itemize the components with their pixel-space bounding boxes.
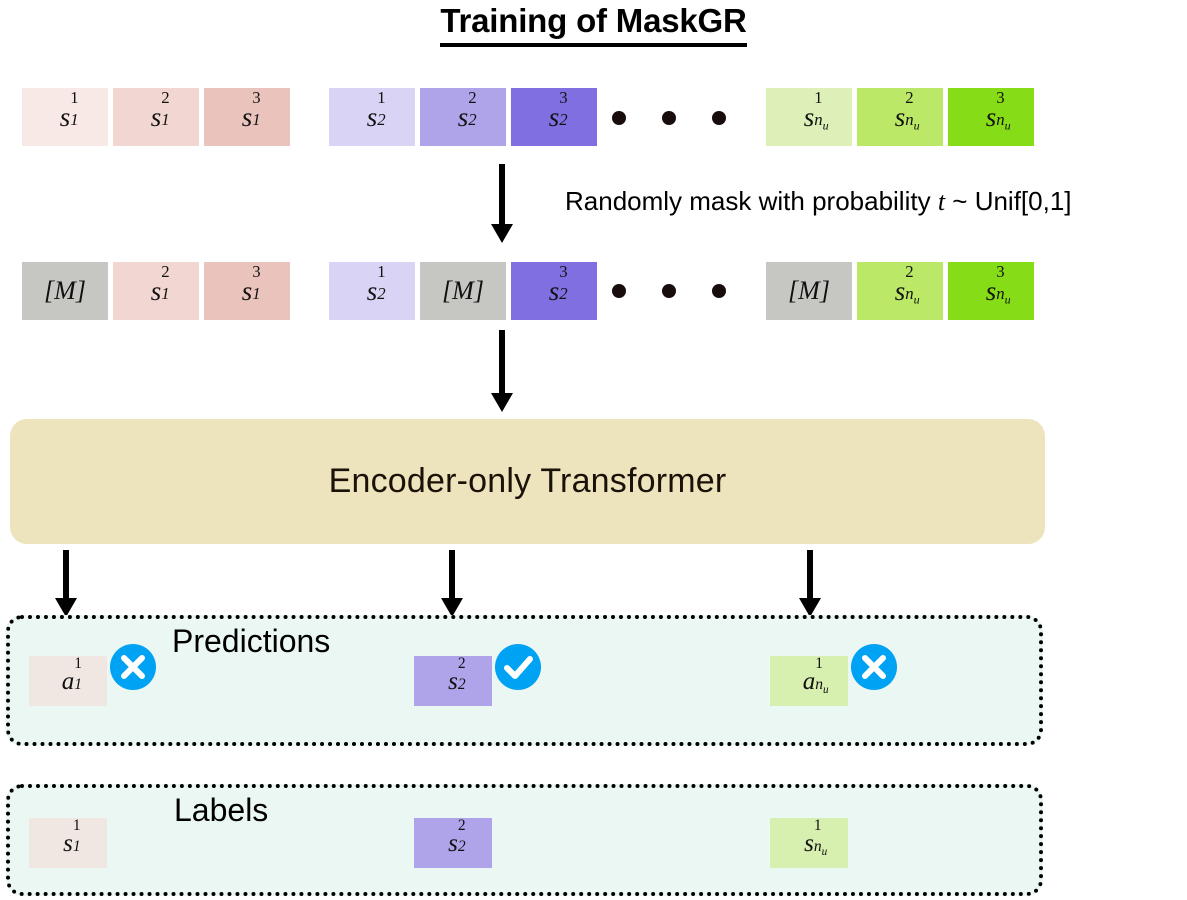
token-s-1-3: s31 bbox=[204, 262, 290, 320]
token-symbol: s12 bbox=[367, 104, 378, 131]
token-superscript: 1 bbox=[70, 90, 78, 107]
token-label-3: s1nu bbox=[770, 818, 848, 868]
token-subscript: nu bbox=[905, 286, 919, 305]
token-symbol: s21 bbox=[151, 104, 162, 131]
token-superscript: 1 bbox=[814, 818, 822, 834]
ellipsis-dot-icon bbox=[612, 284, 626, 298]
token-superscript: 3 bbox=[996, 90, 1004, 107]
token-superscript: 1 bbox=[814, 90, 822, 107]
token-s-2-3: s32 bbox=[511, 88, 597, 146]
token-superscript: 2 bbox=[458, 656, 466, 672]
token-symbol: s22 bbox=[448, 669, 458, 694]
token-superscript: 3 bbox=[252, 264, 260, 281]
mask-note-lead: Randomly mask with probability bbox=[565, 186, 938, 216]
token-symbol: a11 bbox=[62, 669, 75, 694]
token-mask-1: [M] bbox=[22, 262, 108, 320]
token-s-2-3: s32 bbox=[511, 262, 597, 320]
token-superscript: 2 bbox=[905, 264, 913, 281]
token-mask-3: [M] bbox=[766, 262, 852, 320]
token-superscript: 1 bbox=[74, 656, 82, 672]
cross-circle-icon bbox=[850, 643, 898, 691]
token-subscript: nu bbox=[814, 112, 828, 131]
token-superscript: 2 bbox=[458, 818, 466, 834]
ellipsis-dot-icon bbox=[712, 284, 726, 298]
token-symbol: s1nu bbox=[804, 104, 815, 131]
token-s-nu-1: s1nu bbox=[766, 88, 852, 146]
token-mask-2: [M] bbox=[420, 262, 506, 320]
ellipsis-dot-icon bbox=[662, 111, 676, 125]
token-superscript: 3 bbox=[996, 264, 1004, 281]
token-symbol: a1nu bbox=[803, 669, 816, 694]
arrow-out-2-down-arrow-icon bbox=[436, 550, 468, 617]
token-s-1-2: s21 bbox=[113, 88, 199, 146]
token-s-2-1: s12 bbox=[329, 88, 415, 146]
token-subscript: 1 bbox=[161, 112, 169, 129]
labels-panel bbox=[6, 784, 1043, 896]
token-subscript: nu bbox=[815, 677, 828, 696]
token-s-nu-2: s2nu bbox=[857, 262, 943, 320]
token-superscript: 1 bbox=[377, 90, 385, 107]
token-s-2-1: s12 bbox=[329, 262, 415, 320]
arrow-out-3-down-arrow-icon bbox=[794, 550, 826, 617]
ellipsis-dot-icon bbox=[612, 111, 626, 125]
token-symbol: s3nu bbox=[986, 104, 997, 131]
predictions-panel-title: Predictions bbox=[172, 623, 330, 660]
token-s-1-1: s11 bbox=[22, 88, 108, 146]
token-symbol: s32 bbox=[549, 278, 560, 305]
arrow-mask-down-arrow-icon bbox=[486, 164, 518, 243]
mask-token-label: [M] bbox=[788, 278, 830, 304]
token-s-nu-3: s3nu bbox=[948, 262, 1034, 320]
token-pred-3: a1nu bbox=[770, 656, 848, 706]
token-symbol: s3nu bbox=[986, 278, 997, 305]
arrow-to-encoder-down-arrow-icon bbox=[486, 330, 518, 412]
token-symbol: s2nu bbox=[895, 278, 906, 305]
token-subscript: nu bbox=[905, 112, 919, 131]
token-superscript: 3 bbox=[559, 90, 567, 107]
token-symbol: s21 bbox=[151, 278, 162, 305]
token-subscript: 2 bbox=[377, 286, 385, 303]
token-s-nu-2: s2nu bbox=[857, 88, 943, 146]
token-subscript: nu bbox=[996, 286, 1010, 305]
token-subscript: 1 bbox=[74, 677, 82, 693]
token-symbol: s31 bbox=[242, 278, 253, 305]
token-symbol: s11 bbox=[60, 104, 71, 131]
token-subscript: 2 bbox=[377, 112, 385, 129]
token-symbol: s2nu bbox=[895, 104, 906, 131]
mask-note-distribution: Unif[0,1] bbox=[975, 186, 1072, 216]
token-subscript: 1 bbox=[73, 839, 81, 855]
token-pred-2: s22 bbox=[414, 656, 492, 706]
mask-note-variable: t bbox=[938, 187, 945, 216]
token-superscript: 2 bbox=[161, 264, 169, 281]
token-superscript: 1 bbox=[73, 818, 81, 834]
page-title-text: Training of MaskGR bbox=[440, 3, 746, 47]
token-label-1: s11 bbox=[29, 818, 107, 868]
ellipsis-dot-icon bbox=[712, 111, 726, 125]
token-subscript: 2 bbox=[458, 839, 466, 855]
check-circle-icon bbox=[494, 643, 542, 691]
token-subscript: 1 bbox=[252, 286, 260, 303]
diagram-canvas: Training of MaskGR s11s21s31s12s22s32s1n… bbox=[0, 0, 1187, 900]
token-symbol: s22 bbox=[448, 831, 458, 856]
token-subscript: 1 bbox=[252, 112, 260, 129]
page-title: Training of MaskGR bbox=[0, 2, 1187, 47]
token-superscript: 3 bbox=[252, 90, 260, 107]
token-subscript: nu bbox=[814, 839, 827, 858]
token-subscript: 2 bbox=[559, 286, 567, 303]
cross-circle-icon bbox=[109, 643, 157, 691]
token-subscript: 1 bbox=[70, 112, 78, 129]
token-s-1-2: s21 bbox=[113, 262, 199, 320]
ellipsis-dot-icon bbox=[662, 284, 676, 298]
token-symbol: s31 bbox=[242, 104, 253, 131]
token-superscript: 3 bbox=[559, 264, 567, 281]
mask-token-label: [M] bbox=[44, 278, 86, 304]
labels-panel-title: Labels bbox=[174, 792, 268, 829]
token-subscript: 2 bbox=[468, 112, 476, 129]
token-superscript: 2 bbox=[468, 90, 476, 107]
token-subscript: 2 bbox=[458, 677, 466, 693]
token-superscript: 2 bbox=[905, 90, 913, 107]
arrow-out-1-down-arrow-icon bbox=[50, 550, 82, 617]
token-symbol: s22 bbox=[458, 104, 469, 131]
token-symbol: s11 bbox=[63, 831, 73, 856]
token-superscript: 1 bbox=[377, 264, 385, 281]
token-superscript: 2 bbox=[161, 90, 169, 107]
token-label-2: s22 bbox=[414, 818, 492, 868]
token-symbol: s1nu bbox=[804, 831, 814, 856]
token-s-nu-3: s3nu bbox=[948, 88, 1034, 146]
token-symbol: s12 bbox=[367, 278, 378, 305]
token-subscript: 1 bbox=[161, 286, 169, 303]
token-superscript: 1 bbox=[815, 656, 823, 672]
transformer-label: Encoder-only Transformer bbox=[329, 462, 727, 501]
encoder-only-transformer-block: Encoder-only Transformer bbox=[10, 419, 1045, 544]
mask-note-relation: ~ bbox=[945, 186, 975, 216]
mask-token-label: [M] bbox=[442, 278, 484, 304]
token-s-1-3: s31 bbox=[204, 88, 290, 146]
mask-probability-note: Randomly mask with probability t ~ Unif[… bbox=[565, 186, 1072, 217]
token-pred-1: a11 bbox=[29, 656, 107, 706]
token-subscript: 2 bbox=[559, 112, 567, 129]
token-s-2-2: s22 bbox=[420, 88, 506, 146]
token-symbol: s32 bbox=[549, 104, 560, 131]
token-subscript: nu bbox=[996, 112, 1010, 131]
